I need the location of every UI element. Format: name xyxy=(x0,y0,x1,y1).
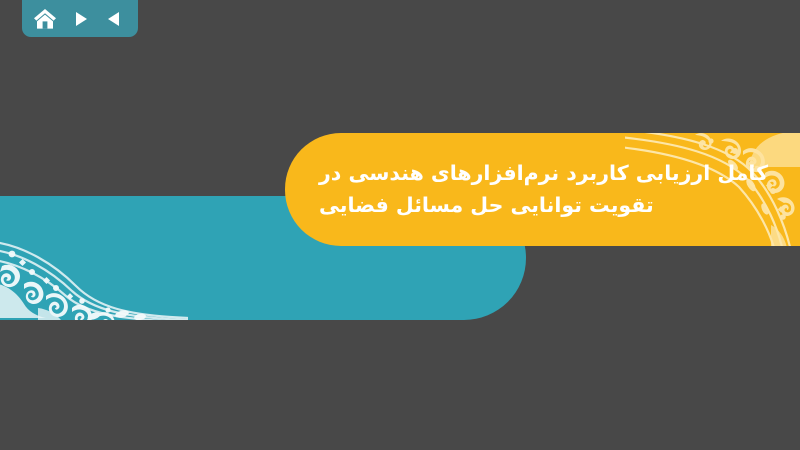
back-button[interactable] xyxy=(102,7,128,31)
title-line-1: کامل ارزیابی کاربرد نرم‌افزارهای هندسی د… xyxy=(319,158,768,189)
home-icon xyxy=(33,8,57,30)
navigation-bar xyxy=(22,0,138,37)
back-arrow-icon xyxy=(105,9,125,29)
title-line-2: تقویت توانایی حل مسائل فضایی xyxy=(319,190,654,221)
forward-button[interactable] xyxy=(67,7,93,31)
presentation-slide: کامل ارزیابی کاربرد نرم‌افزارهای هندسی د… xyxy=(0,0,800,450)
arabesque-ornament-icon xyxy=(0,196,188,320)
forward-arrow-icon xyxy=(70,9,90,29)
title-panel: کامل ارزیابی کاربرد نرم‌افزارهای هندسی د… xyxy=(285,133,800,246)
home-button[interactable] xyxy=(32,7,58,31)
slide-title: کامل ارزیابی کاربرد نرم‌افزارهای هندسی د… xyxy=(319,133,780,246)
